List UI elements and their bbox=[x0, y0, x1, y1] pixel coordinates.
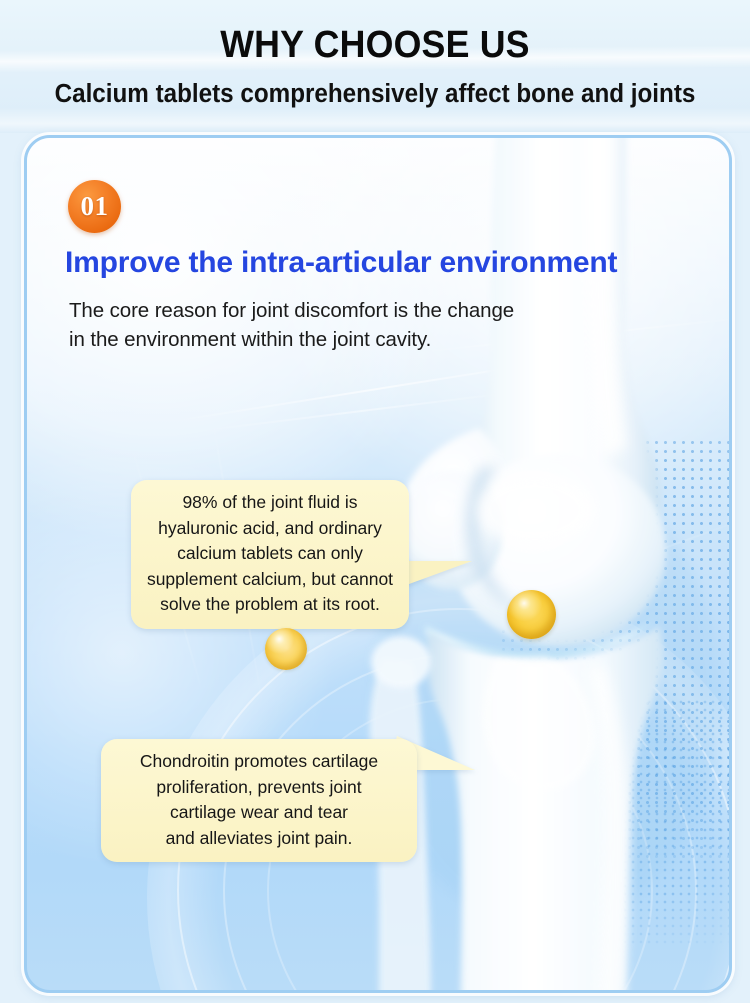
feature-headline: Improve the intra-articular environment bbox=[65, 246, 617, 280]
page-subtitle: Calcium tablets comprehensively affect b… bbox=[19, 78, 732, 110]
step-number-badge: 01 bbox=[68, 180, 121, 233]
feature-body-text: The core reason for joint discomfort is … bbox=[69, 296, 514, 354]
callout-chondroitin: Chondroitin promotes cartilage prolifera… bbox=[101, 739, 417, 862]
page-title: WHY CHOOSE US bbox=[23, 22, 728, 68]
page-header: WHY CHOOSE US Calcium tablets comprehens… bbox=[0, 0, 750, 133]
callout-joint-fluid: 98% of the joint fluid is hyaluronic aci… bbox=[131, 480, 409, 629]
header-sheen-decoration-2 bbox=[0, 108, 750, 133]
step-number-text: 01 bbox=[81, 193, 109, 220]
fibula-head bbox=[371, 636, 431, 688]
condyle-specular bbox=[477, 474, 593, 546]
gold-sphere-large bbox=[507, 590, 556, 639]
gold-sphere-small bbox=[265, 628, 307, 670]
poster-page: WHY CHOOSE US Calcium tablets comprehens… bbox=[0, 0, 750, 1003]
feature-card: 01 Improve the intra-articular environme… bbox=[24, 135, 732, 993]
